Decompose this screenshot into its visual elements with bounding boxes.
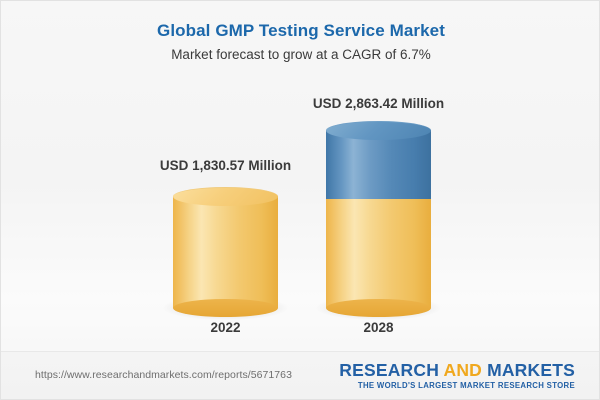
category-label-2022: 2022 xyxy=(173,320,278,336)
logo-tagline: THE WORLD'S LARGEST MARKET RESEARCH STOR… xyxy=(339,381,575,391)
bar-cylinder-2022[interactable] xyxy=(173,187,278,308)
logo-word-markets: MARKETS xyxy=(487,360,575,380)
segment-top-cap xyxy=(173,187,278,206)
research-and-markets-logo[interactable]: RESEARCH AND MARKETS THE WORLD'S LARGEST… xyxy=(339,361,575,391)
bar-group-2022: USD 1,830.57 Million 2022 xyxy=(173,1,278,331)
chart-footer: https://www.researchandmarkets.com/repor… xyxy=(1,351,600,399)
chart-plot-area: USD 1,830.57 Million 2022 USD 2,863.4 xyxy=(1,1,600,353)
logo-wordmark: RESEARCH AND MARKETS xyxy=(339,361,575,380)
bar-segment-base-2028 xyxy=(326,197,431,308)
category-label-2028: 2028 xyxy=(326,320,431,336)
segment-bottom-cap xyxy=(326,299,431,317)
bar-value-label-2028: USD 2,863.42 Million xyxy=(302,96,455,112)
logo-word-and: AND xyxy=(443,360,482,380)
segment-top-cap xyxy=(326,121,431,140)
bar-group-2028: USD 2,863.42 Million 2028 xyxy=(326,1,431,331)
chart-card: Global GMP Testing Service Market Market… xyxy=(0,0,600,400)
bar-value-label-2022: USD 1,830.57 Million xyxy=(149,158,302,174)
logo-word-research: RESEARCH xyxy=(339,360,439,380)
bar-segment-base-2022 xyxy=(173,196,278,308)
report-url-link[interactable]: https://www.researchandmarkets.com/repor… xyxy=(35,369,292,381)
segment-body xyxy=(326,197,431,308)
segment-body xyxy=(326,130,431,199)
segment-body xyxy=(173,196,278,308)
segment-bottom-cap xyxy=(173,299,278,317)
bar-cylinder-2028[interactable] xyxy=(326,121,431,308)
bar-segment-growth-2028 xyxy=(326,130,431,199)
